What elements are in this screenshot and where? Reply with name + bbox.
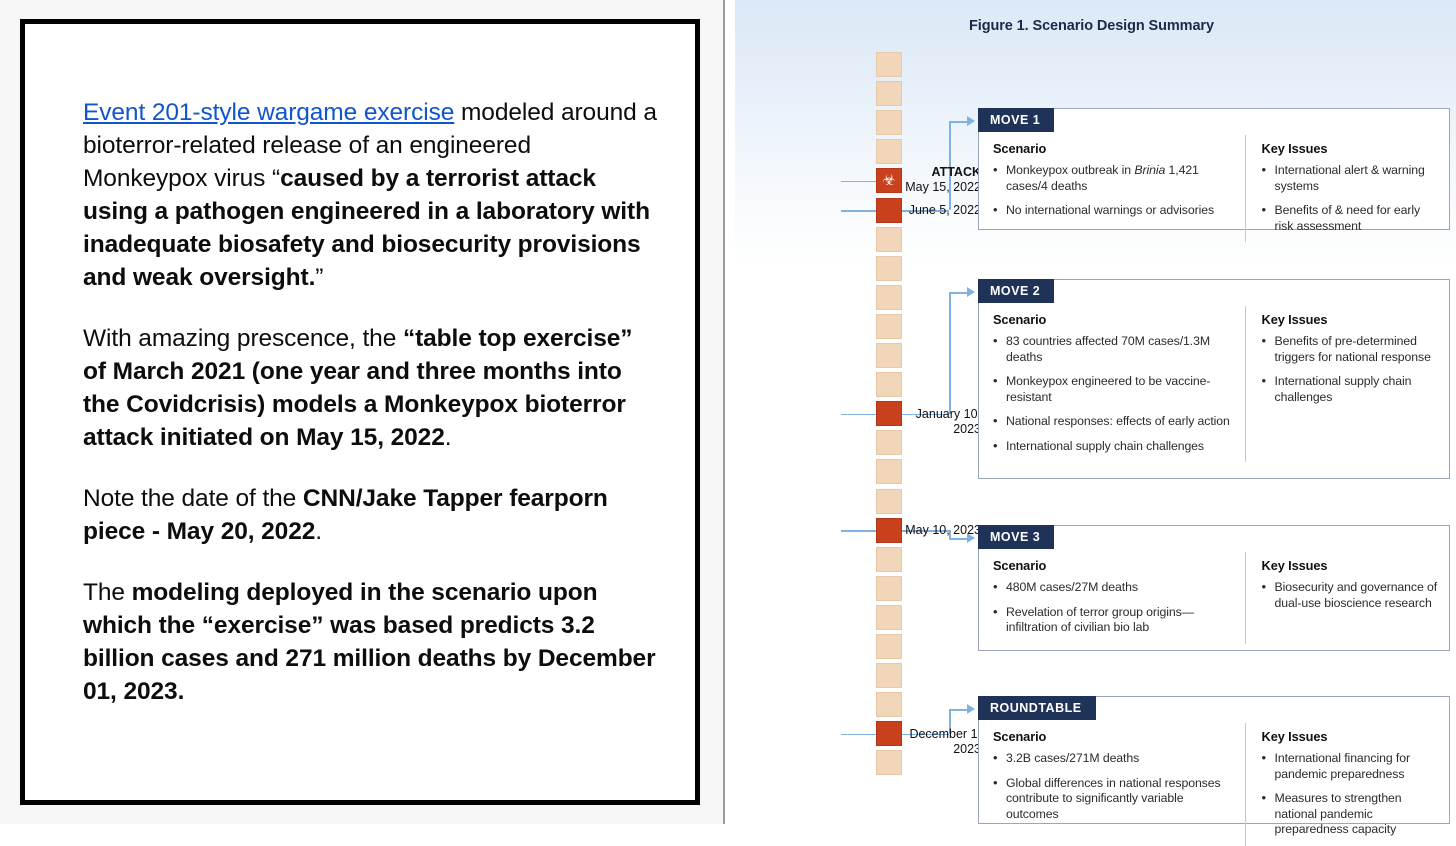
key-issues-bullet-list: International financing for pandemic pre… <box>1262 751 1439 838</box>
scenario-heading: Scenario <box>993 312 1235 327</box>
timeline-segment <box>876 139 902 164</box>
connector-horizontal-to-box <box>949 292 968 294</box>
connector-arrow-icon <box>967 287 975 297</box>
timeline-date-text: June 5, 2022 <box>909 203 981 218</box>
timeline-segment <box>876 750 902 775</box>
timeline-date-text: December 1, <box>909 727 981 742</box>
timeline-segment-highlighted <box>876 198 902 223</box>
move-box-columns: ScenarioMonkeypox outbreak in Brinia 1,4… <box>979 135 1449 242</box>
scenario-bullet: Global differences in national responses… <box>993 776 1235 823</box>
connector-arrow-icon <box>967 704 975 714</box>
timeline-date-text: January 10, <box>916 407 981 422</box>
scenario-heading: Scenario <box>993 558 1235 573</box>
timeline-date-label: May 10, 2023 <box>905 523 981 538</box>
move-box-header-roundtable: ROUNDTABLE <box>978 696 1096 720</box>
timeline-segment <box>876 430 902 455</box>
timeline-bar: ATTACKMay 15, 2022June 5, 2022January 10… <box>876 52 902 742</box>
key-issues-heading: Key Issues <box>1262 141 1439 156</box>
date-leader-line <box>841 181 876 183</box>
timeline-segment-highlighted: ☣ <box>876 168 902 193</box>
timeline-segment <box>876 110 902 135</box>
paragraph-1: Event 201-style wargame exercise modeled… <box>83 96 661 294</box>
move-box-header-move3: MOVE 3 <box>978 525 1054 549</box>
paragraph-2-plain-2: . <box>445 424 452 451</box>
date-leader-line <box>841 210 876 212</box>
scenario-column: ScenarioMonkeypox outbreak in Brinia 1,4… <box>979 135 1245 242</box>
move-box-roundtable: ROUNDTABLEScenario3.2B cases/271M deaths… <box>978 696 1450 824</box>
timeline-segment <box>876 547 902 572</box>
key-issues-column: Key IssuesBiosecurity and governance of … <box>1245 552 1449 644</box>
move-box-move2: MOVE 2Scenario83 countries affected 70M … <box>978 279 1450 479</box>
key-issue-bullet: Benefits of & need for early risk assess… <box>1262 203 1439 234</box>
article-text: Event 201-style wargame exercise modeled… <box>83 96 661 708</box>
key-issue-bullet: Biosecurity and governance of dual-use b… <box>1262 580 1439 611</box>
key-issue-bullet: International financing for pandemic pre… <box>1262 751 1439 782</box>
key-issues-column: Key IssuesInternational financing for pa… <box>1245 723 1449 846</box>
scenario-bullet: 480M cases/27M deaths <box>993 580 1235 596</box>
scenario-bullet: 83 countries affected 70M cases/1.3M dea… <box>993 334 1235 365</box>
scenario-bullet: National responses: effects of early act… <box>993 414 1235 430</box>
timeline-segment <box>876 314 902 339</box>
timeline-segment <box>876 285 902 310</box>
timeline-date-label: December 1,2023 <box>909 727 981 757</box>
paragraph-1-plain-2: ” <box>315 264 323 291</box>
scenario-bullet-list: 480M cases/27M deathsRevelation of terro… <box>993 580 1235 636</box>
scenario-bullet: International supply chain challenges <box>993 439 1235 455</box>
timeline-date-text: 2023 <box>909 742 981 757</box>
scenario-bullet: Monkeypox outbreak in Brinia 1,421 cases… <box>993 163 1235 194</box>
timeline-segment <box>876 52 902 77</box>
text-card: Event 201-style wargame exercise modeled… <box>20 19 700 805</box>
timeline-segment <box>876 343 902 368</box>
key-issue-bullet: Measures to strengthen national pandemic… <box>1262 791 1439 838</box>
connector-horizontal-to-box <box>949 538 968 540</box>
scenario-bullet: No international warnings or advisories <box>993 203 1235 219</box>
key-issues-bullet-list: Benefits of pre-determined triggers for … <box>1262 334 1439 405</box>
left-panel: Event 201-style wargame exercise modeled… <box>0 0 723 824</box>
timeline-segment <box>876 256 902 281</box>
connector-arrow-icon <box>967 116 975 126</box>
scenario-bullet: Revelation of terror group origins—infil… <box>993 605 1235 636</box>
date-leader-line <box>841 414 876 416</box>
key-issue-bullet: International supply chain challenges <box>1262 374 1439 405</box>
country-name: Brinia <box>1134 163 1165 177</box>
timeline-segment <box>876 663 902 688</box>
scenario-column: Scenario3.2B cases/271M deathsGlobal dif… <box>979 723 1245 846</box>
timeline-segment <box>876 81 902 106</box>
key-issue-bullet: Benefits of pre-determined triggers for … <box>1262 334 1439 365</box>
move-box-move3: MOVE 3Scenario480M cases/27M deathsRevel… <box>978 525 1450 651</box>
page-root: Event 201-style wargame exercise modeled… <box>0 0 1456 824</box>
key-issues-column: Key IssuesBenefits of pre-determined tri… <box>1245 306 1449 462</box>
key-issue-bullet: International alert & warning systems <box>1262 163 1439 194</box>
scenario-bullet-list: 3.2B cases/271M deathsGlobal differences… <box>993 751 1235 822</box>
timeline-segment <box>876 605 902 630</box>
scenario-bullet: Monkeypox engineered to be vaccine-resis… <box>993 374 1235 405</box>
scenario-heading: Scenario <box>993 141 1235 156</box>
key-issues-heading: Key Issues <box>1262 558 1439 573</box>
scenario-column: Scenario480M cases/27M deathsRevelation … <box>979 552 1245 644</box>
biohazard-icon: ☣ <box>877 169 901 192</box>
timeline-date-text: May 15, 2022 <box>905 180 981 195</box>
connector-horizontal-to-box <box>949 709 968 711</box>
paragraph-2-plain-1: With amazing prescence, the <box>83 325 403 352</box>
timeline-date-text: May 10, 2023 <box>905 523 981 538</box>
scenario-bullet-list: 83 countries affected 70M cases/1.3M dea… <box>993 334 1235 454</box>
move-box-header-move1: MOVE 1 <box>978 108 1054 132</box>
key-issues-column: Key IssuesInternational alert & warning … <box>1245 135 1449 242</box>
scenario-heading: Scenario <box>993 729 1235 744</box>
move-box-columns: Scenario480M cases/27M deathsRevelation … <box>979 552 1449 644</box>
date-leader-line <box>841 530 876 532</box>
timeline-segment <box>876 576 902 601</box>
paragraph-4-plain-1: The <box>83 579 132 606</box>
key-issues-heading: Key Issues <box>1262 312 1439 327</box>
figure-panel: Figure 1. Scenario Design Summary ATTACK… <box>723 0 1456 824</box>
paragraph-4-bold-1: modeling deployed in the scenario upon w… <box>83 579 656 705</box>
event-201-link[interactable]: Event 201-style wargame exercise <box>83 99 454 126</box>
timeline-segment <box>876 372 902 397</box>
timeline-segment <box>876 634 902 659</box>
timeline-segment <box>876 489 902 514</box>
scenario-bullet: 3.2B cases/271M deaths <box>993 751 1235 767</box>
figure-title: Figure 1. Scenario Design Summary <box>725 18 1456 34</box>
scenario-bullet-list: Monkeypox outbreak in Brinia 1,421 cases… <box>993 163 1235 219</box>
timeline-date-label: June 5, 2022 <box>909 203 981 218</box>
timeline-segment <box>876 227 902 252</box>
connector-vertical <box>949 292 951 414</box>
timeline-date-label: January 10,2023 <box>916 407 981 437</box>
key-issues-heading: Key Issues <box>1262 729 1439 744</box>
timeline-date-text: 2023 <box>916 422 981 437</box>
move-box-columns: Scenario83 countries affected 70M cases/… <box>979 306 1449 462</box>
paragraph-4: The modeling deployed in the scenario up… <box>83 576 661 708</box>
paragraph-2: With amazing prescence, the “table top e… <box>83 322 661 454</box>
scenario-column: Scenario83 countries affected 70M cases/… <box>979 306 1245 462</box>
paragraph-3: Note the date of the CNN/Jake Tapper fea… <box>83 482 661 548</box>
move-box-move1: MOVE 1ScenarioMonkeypox outbreak in Brin… <box>978 108 1450 230</box>
move-box-header-move2: MOVE 2 <box>978 279 1054 303</box>
date-leader-line <box>841 734 876 736</box>
timeline-segment-highlighted <box>876 401 902 426</box>
move-box-columns: Scenario3.2B cases/271M deathsGlobal dif… <box>979 723 1449 846</box>
key-issues-bullet-list: International alert & warning systemsBen… <box>1262 163 1439 234</box>
key-issues-bullet-list: Biosecurity and governance of dual-use b… <box>1262 580 1439 611</box>
connector-horizontal-to-box <box>949 121 968 123</box>
timeline-attack-eyebrow: ATTACK <box>905 165 981 180</box>
timeline-segment <box>876 692 902 717</box>
paragraph-3-plain-1: Note the date of the <box>83 485 303 512</box>
timeline-segment-highlighted <box>876 518 902 543</box>
timeline-segment <box>876 459 902 484</box>
paragraph-3-plain-2: . <box>315 518 322 545</box>
timeline-segment-highlighted <box>876 721 902 746</box>
timeline-date-label: ATTACKMay 15, 2022 <box>905 165 981 195</box>
